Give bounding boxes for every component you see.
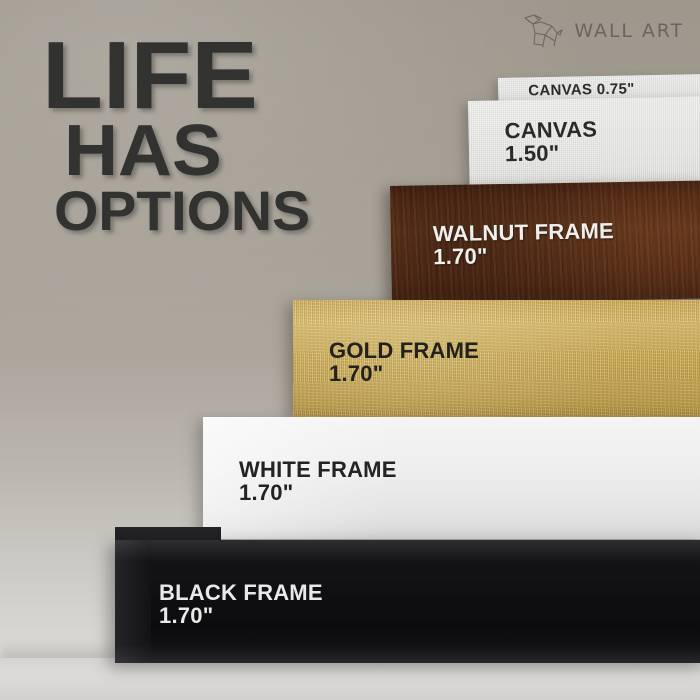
- option-label-gold-frame: GOLD FRAME 1.70": [329, 340, 479, 386]
- option-slab-gold-frame[interactable]: GOLD FRAME 1.70": [293, 300, 700, 418]
- option-label-canvas-150: CANVAS 1.50": [504, 119, 597, 167]
- option-label-walnut-frame: WALNUT FRAME 1.70": [433, 220, 615, 269]
- page-title: LIFE HAS OPTIONS: [42, 36, 372, 234]
- option-label-canvas-075: CANVAS 0.75": [528, 81, 635, 99]
- brand-logo: WALL ART: [521, 13, 684, 49]
- option-slab-walnut-frame[interactable]: WALNUT FRAME 1.70": [390, 180, 700, 304]
- product-options-poster: LIFE HAS OPTIONS WALL ART CANVAS 0: [0, 0, 700, 700]
- brand-name: WALL ART: [574, 20, 684, 42]
- option-slab-canvas-150[interactable]: CANVAS 1.50": [468, 96, 700, 193]
- headline-line-1: LIFE: [42, 36, 385, 117]
- option-label-white-frame: WHITE FRAME 1.70": [239, 459, 397, 505]
- headline-line-2: HAS: [64, 121, 384, 181]
- option-label-black-frame: BLACK FRAME 1.70": [159, 582, 323, 628]
- headline-line-3: OPTIONS: [54, 187, 378, 234]
- origami-goat-icon: [521, 13, 565, 49]
- option-slab-black-frame[interactable]: BLACK FRAME 1.70": [115, 540, 700, 663]
- floor-plane: [0, 658, 700, 700]
- option-slab-white-frame[interactable]: WHITE FRAME 1.70": [203, 417, 700, 539]
